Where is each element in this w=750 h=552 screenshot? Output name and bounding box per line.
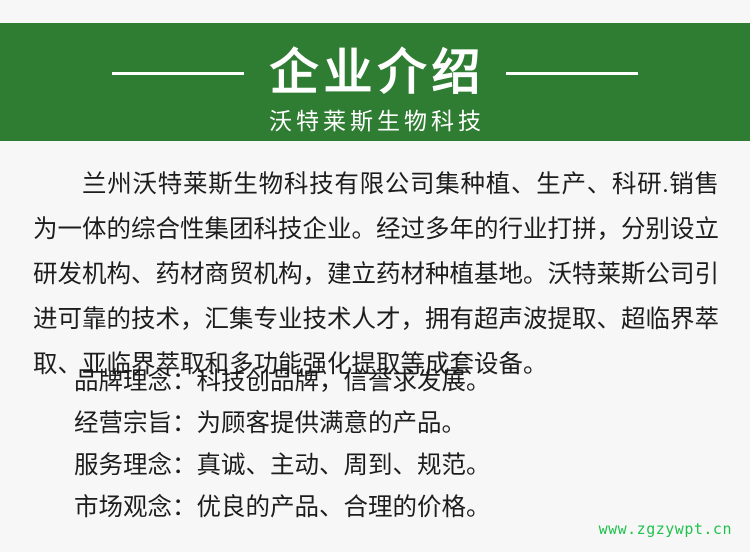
content-area: 兰州沃特莱斯生物科技有限公司集种植、生产、科研.销售为一体的综合性集团科技企业。…: [0, 141, 750, 552]
header-banner: 企业介绍 沃特莱斯生物科技: [0, 23, 750, 141]
principles-list: 品牌理念：科技创品牌，信誉求发展。 经营宗旨：为顾客提供满意的产品。 服务理念：…: [0, 361, 750, 529]
page-subtitle: 沃特莱斯生物科技: [0, 107, 750, 135]
decorative-rule-right: [506, 72, 638, 75]
decorative-rule-left: [112, 72, 244, 75]
header-title-row: 企业介绍: [0, 45, 750, 101]
list-item: 服务理念：真诚、主动、周到、规范。: [0, 445, 750, 487]
intro-paragraph: 兰州沃特莱斯生物科技有限公司集种植、生产、科研.销售为一体的综合性集团科技企业。…: [33, 162, 719, 387]
site-watermark: www.zgzywpt.cn: [599, 520, 732, 538]
list-item: 品牌理念：科技创品牌，信誉求发展。: [0, 361, 750, 403]
list-item: 经营宗旨：为顾客提供满意的产品。: [0, 403, 750, 445]
company-introduction-page: 企业介绍 沃特莱斯生物科技 兰州沃特莱斯生物科技有限公司集种植、生产、科研.销售…: [0, 0, 750, 552]
page-title: 企业介绍: [264, 47, 485, 99]
